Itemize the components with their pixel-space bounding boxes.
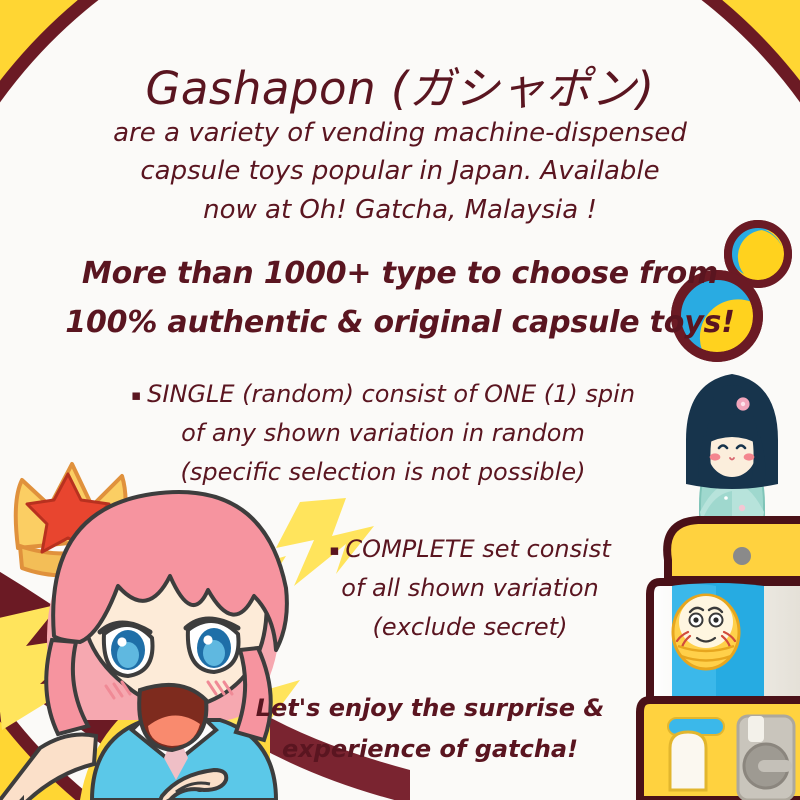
closing-line-1: Let's enjoy the surprise & — [230, 688, 630, 729]
bullet-complete-text-1: COMPLETE set consist — [345, 535, 610, 563]
lead-paragraph: are a variety of vending machine-dispens… — [110, 114, 690, 229]
bullet-single-text-1: SINGLE (random) consist of ONE (1) spin — [147, 380, 635, 408]
bullet-complete-line-3: (exclude secret) — [300, 608, 640, 647]
bullet-marker-icon-2: ▪ — [329, 541, 339, 559]
gashapon-promo-poster: Gashapon (ガシャポン) are a variety of vendin… — [0, 0, 800, 800]
bullet-single-line-1: ▪SINGLE (random) consist of ONE (1) spin — [118, 375, 648, 414]
bullet-complete-line-2: of all shown variation — [300, 569, 640, 608]
closing-block: Let's enjoy the surprise & experience of… — [230, 688, 630, 771]
lead-line-3: now at Oh! Gatcha, Malaysia ! — [110, 191, 690, 229]
bullet-single-line-3: (specific selection is not possible) — [118, 453, 648, 492]
page-title: Gashapon (ガシャポン) — [0, 52, 800, 117]
bullet-single-line-2: of any shown variation in random — [118, 414, 648, 453]
lead-line-1: are a variety of vending machine-dispens… — [110, 114, 690, 152]
text-layer: Gashapon (ガシャポン) are a variety of vendin… — [0, 0, 800, 800]
headline-line-2: 100% authentic & original capsule toys! — [40, 299, 760, 348]
headline-line-1: More than 1000+ type to choose from — [40, 250, 760, 299]
bullet-complete-line-1: ▪COMPLETE set consist — [300, 530, 640, 569]
bullet-marker-icon: ▪ — [131, 386, 141, 404]
lead-line-2: capsule toys popular in Japan. Available — [110, 152, 690, 190]
bullet-single-block: ▪SINGLE (random) consist of ONE (1) spin… — [118, 375, 648, 492]
headline-block: More than 1000+ type to choose from 100%… — [40, 250, 760, 348]
closing-line-2: experience of gatcha! — [230, 729, 630, 770]
bullet-complete-block: ▪COMPLETE set consist of all shown varia… — [300, 530, 640, 647]
